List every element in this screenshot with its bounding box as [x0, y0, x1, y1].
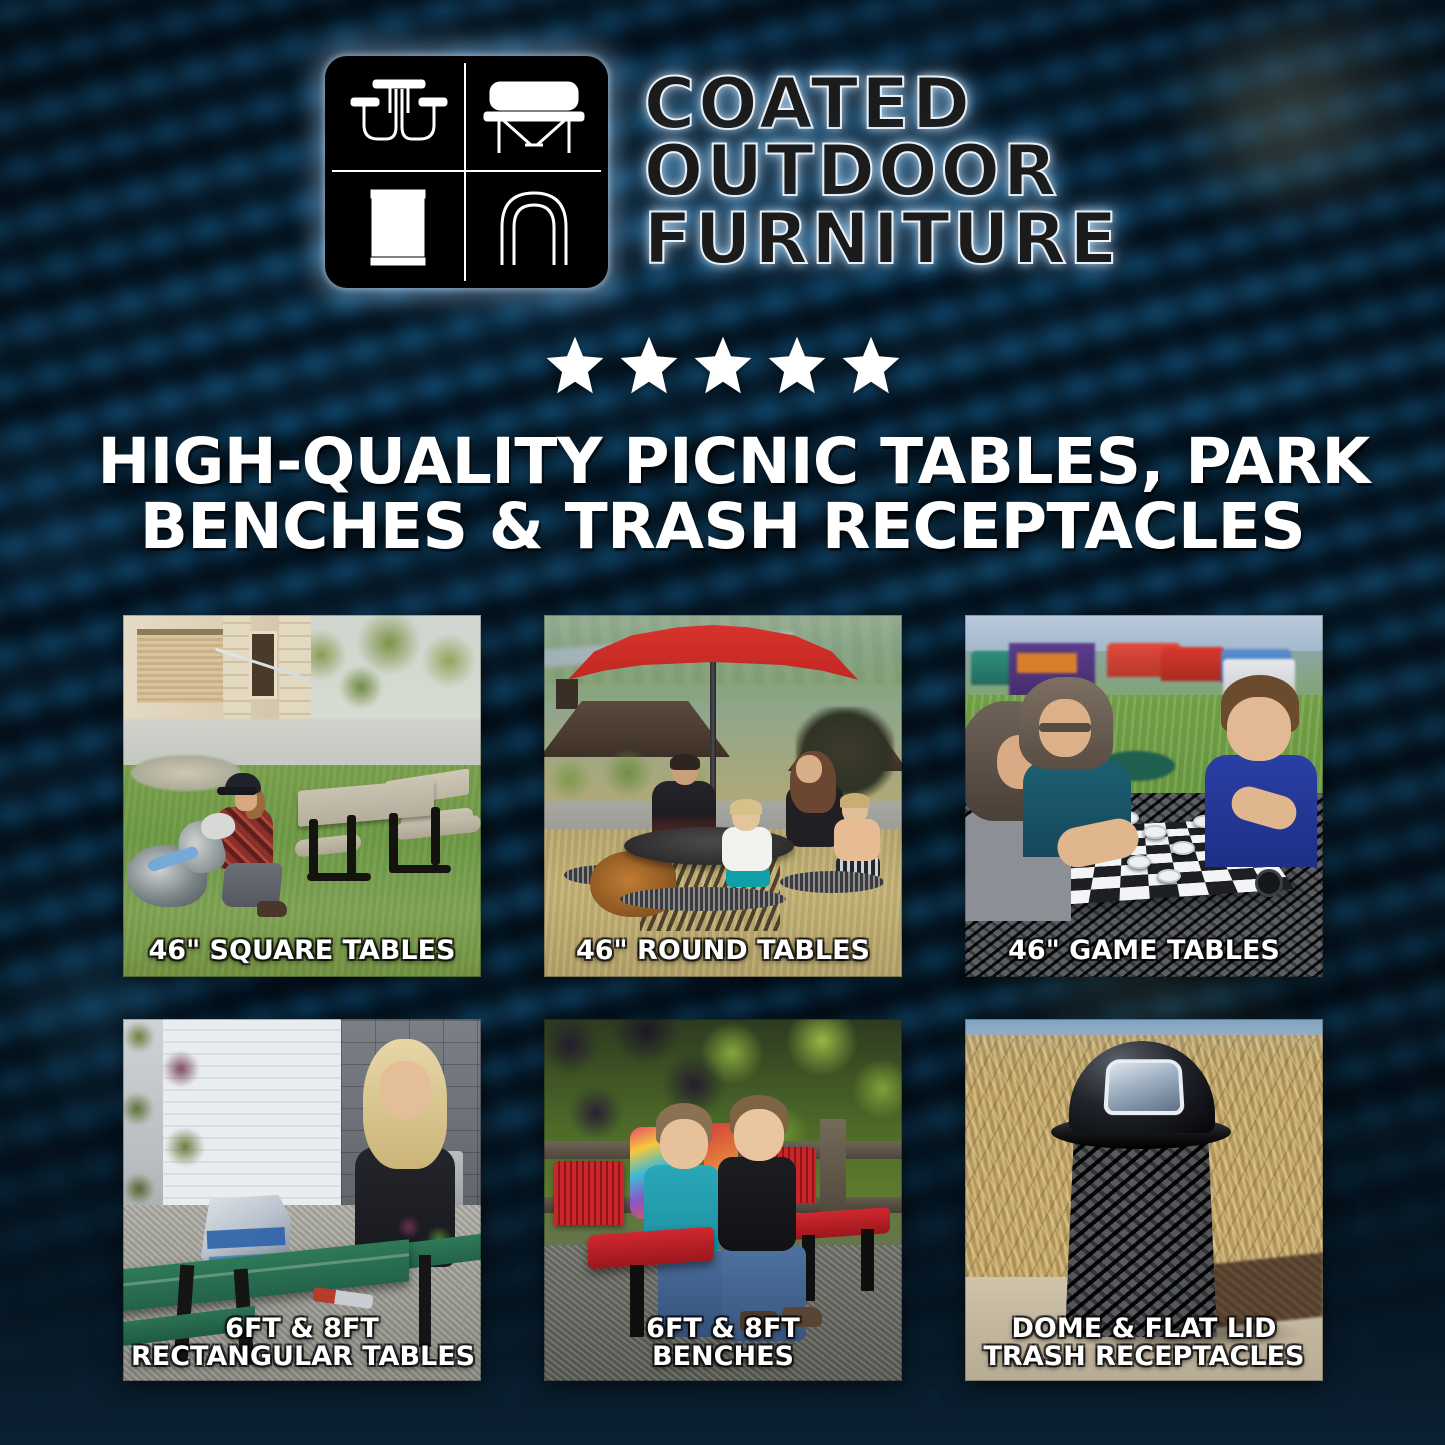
scene-square-tables	[123, 615, 481, 977]
product-tile-trash-receptacles[interactable]: DOME & FLAT LID TRASH RECEPTACLES	[965, 1019, 1323, 1381]
trash-receptacle-icon	[332, 172, 467, 281]
tile-caption: 46" ROUND TABLES	[544, 937, 902, 965]
product-tile-game-tables[interactable]: 46" GAME TABLES	[965, 615, 1323, 977]
company-logo-mark	[325, 56, 608, 288]
star-icon-5	[839, 334, 903, 396]
page-headline: HIGH-QUALITY PICNIC TABLES, PARK BENCHES…	[98, 430, 1348, 560]
brand-line-2: OUTDOOR	[644, 138, 1121, 205]
brand-header: COATED OUTDOOR FURNITURE	[0, 56, 1445, 288]
headline-line-2: BENCHES & TRASH RECEPTACLES	[98, 495, 1348, 560]
brand-line-1: COATED	[644, 71, 1121, 138]
product-tile-round-tables[interactable]: 46" ROUND TABLES	[544, 615, 902, 977]
caption-line-1: 6FT & 8FT	[131, 1315, 473, 1343]
product-tile-square-tables[interactable]: 46" SQUARE TABLES	[123, 615, 481, 977]
caption-line-2: BENCHES	[552, 1343, 894, 1371]
star-icon-2	[617, 334, 681, 396]
caption-line-2: RECTANGULAR TABLES	[131, 1343, 473, 1371]
product-grid: 46" SQUARE TABLES	[123, 615, 1323, 1381]
tile-caption: 46" GAME TABLES	[965, 937, 1323, 965]
brand-wordmark: COATED OUTDOOR FURNITURE	[644, 71, 1121, 273]
picnic-table-icon	[332, 63, 467, 172]
star-icon-4	[765, 334, 829, 396]
tile-caption: 6FT & 8FT RECTANGULAR TABLES	[123, 1315, 481, 1371]
five-star-rating	[0, 334, 1445, 396]
caption-line-1: 46" ROUND TABLES	[552, 937, 894, 965]
bike-rack-icon	[466, 172, 601, 281]
tile-caption: 6FT & 8FT BENCHES	[544, 1315, 902, 1371]
product-tile-benches[interactable]: 6FT & 8FT BENCHES	[544, 1019, 902, 1381]
tile-caption: DOME & FLAT LID TRASH RECEPTACLES	[965, 1315, 1323, 1371]
star-icon-3	[691, 334, 755, 396]
scene-round-tables	[544, 615, 902, 977]
promotional-poster: COATED OUTDOOR FURNITURE HIGH-QUALITY PI…	[0, 0, 1445, 1445]
scene-game-tables	[965, 615, 1323, 977]
caption-line-1: DOME & FLAT LID	[973, 1315, 1315, 1343]
caption-line-2: TRASH RECEPTACLES	[973, 1343, 1315, 1371]
caption-line-1: 46" GAME TABLES	[973, 937, 1315, 965]
star-icon-1	[543, 334, 607, 396]
caption-line-1: 46" SQUARE TABLES	[131, 937, 473, 965]
bench-table-icon	[466, 63, 601, 172]
caption-line-1: 6FT & 8FT	[552, 1315, 894, 1343]
brand-line-3: FURNITURE	[644, 206, 1121, 273]
headline-line-1: HIGH-QUALITY PICNIC TABLES, PARK	[98, 430, 1348, 495]
product-tile-rectangular-tables[interactable]: 6FT & 8FT RECTANGULAR TABLES	[123, 1019, 481, 1381]
tile-caption: 46" SQUARE TABLES	[123, 937, 481, 965]
